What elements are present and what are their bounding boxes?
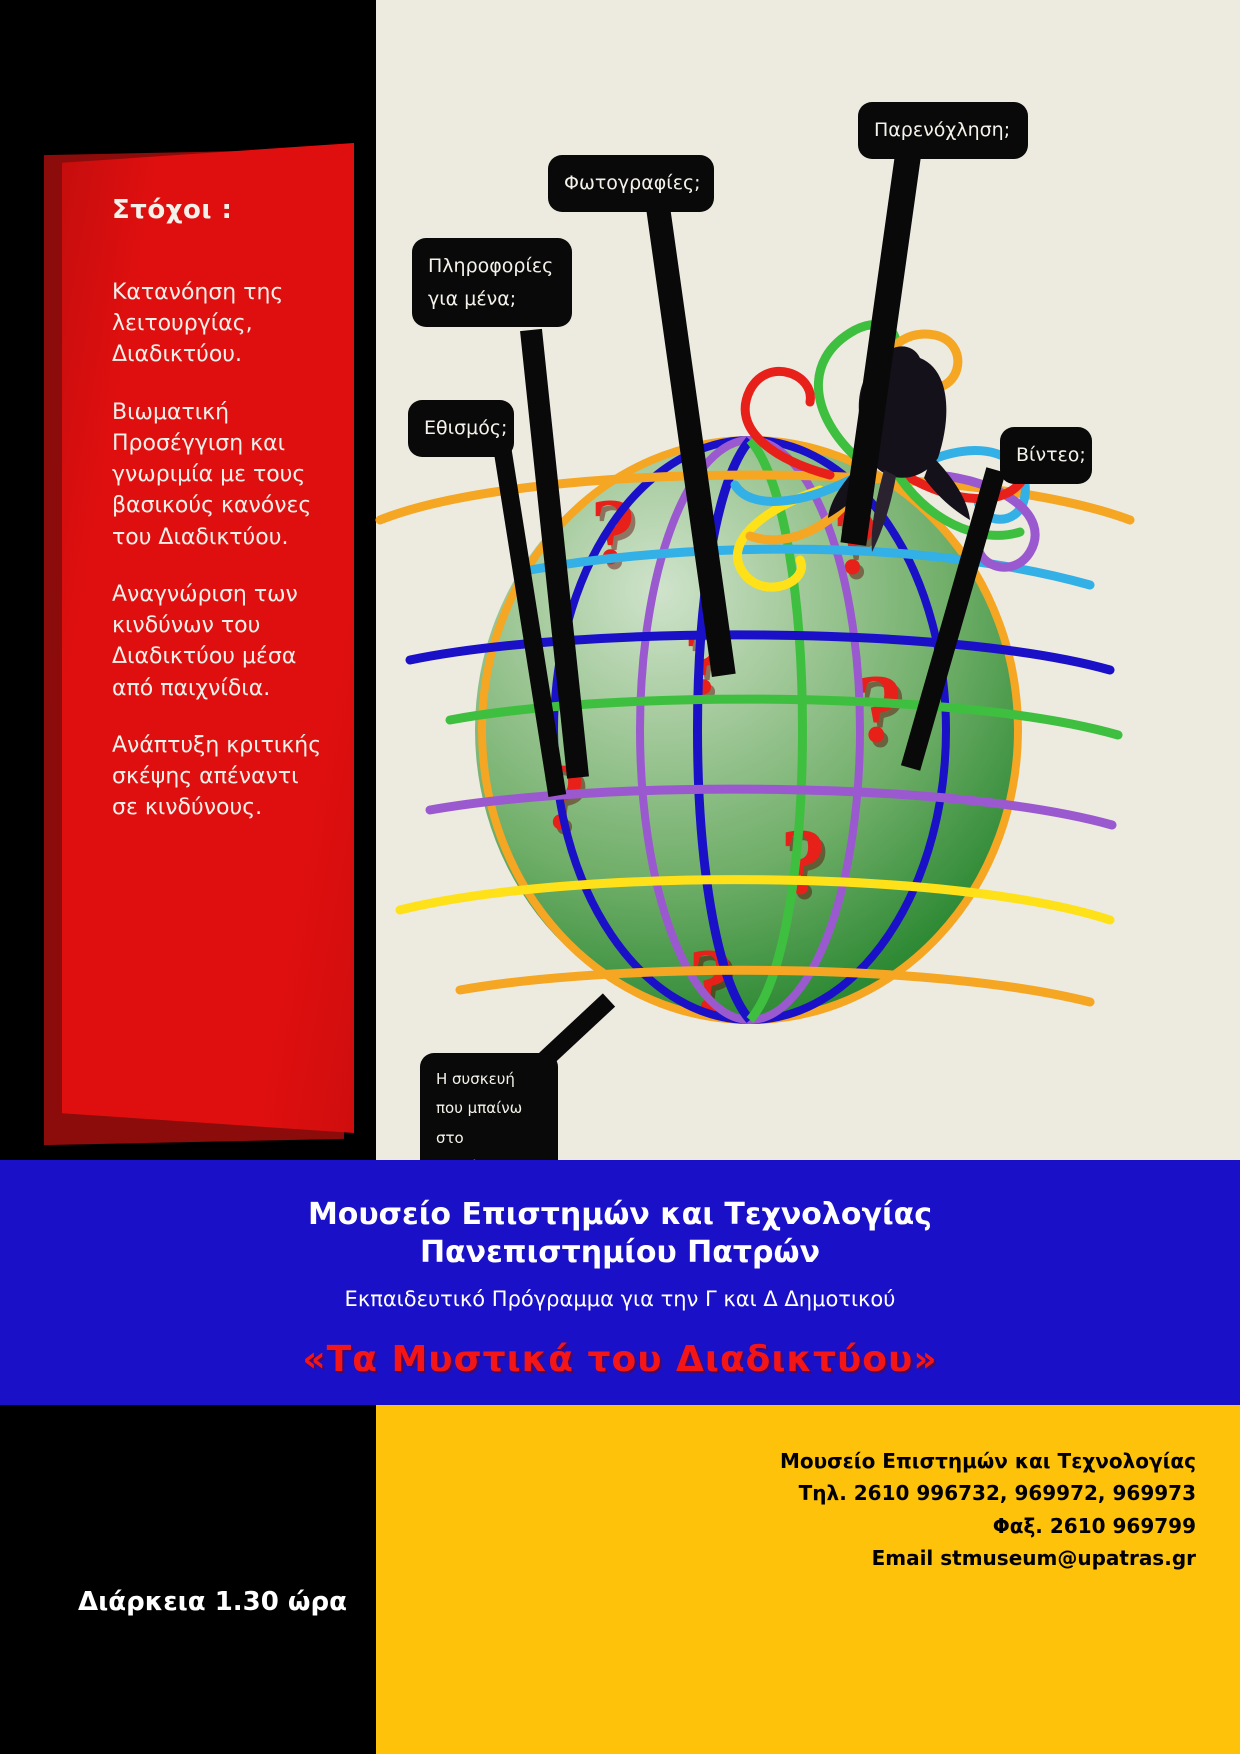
poster: Στόχοι : Κατανόηση της λειτουργίας, Διαδ… — [0, 0, 1240, 1754]
globe-illustration: ? ? ? ? ? ? ? — [400, 270, 1100, 1070]
duration-label: Διάρκεια 1.30 ώρα — [78, 1587, 347, 1617]
museum-footer-band: Μουσείο Επιστημών και Τεχνολογίας Πανεπι… — [0, 1160, 1240, 1405]
bubble-photos[interactable]: Φωτογραφίες; — [548, 155, 714, 212]
goal-item: Ανάπτυξη κριτικής σκέψης απέναντι σε κιν… — [112, 730, 326, 824]
goal-item: Βιωματική Προσέγγιση και γνωριμία με του… — [112, 397, 326, 553]
museum-name-line1: Μουσείο Επιστημών και Τεχνολογίας — [308, 1197, 932, 1232]
bubble-label: Πληροφορίες για μένα; — [428, 255, 553, 310]
bubble-label: Φωτογραφίες; — [564, 172, 701, 194]
program-subtitle: Εκπαιδευτικό Πρόγραμμα για την Γ και Δ Δ… — [0, 1287, 1240, 1311]
goal-item: Αναγνώριση των κινδύνων του Διαδικτύου μ… — [112, 579, 326, 704]
goals-card: Στόχοι : Κατανόηση της λειτουργίας, Διαδ… — [62, 143, 354, 1133]
museum-name-line2: Πανεπιστημίου Πατρών — [420, 1235, 820, 1270]
contact-line-email[interactable]: Email stmuseum@upatras.gr — [376, 1542, 1196, 1574]
contact-line: Τηλ. 2610 996732, 969972, 969973 — [376, 1477, 1196, 1509]
bubble-label: Παρενόχληση; — [874, 119, 1010, 141]
bubble-info-about-me[interactable]: Πληροφορίες για μένα; — [412, 238, 572, 327]
bottom-strip: Μουσείο Επιστημών και Τεχνολογίας Τηλ. 2… — [0, 1405, 1240, 1754]
contact-line: Μουσείο Επιστημών και Τεχνολογίας — [376, 1445, 1196, 1477]
goals-title: Στόχοι : — [112, 195, 326, 225]
bubble-addiction[interactable]: Εθισμός; — [408, 400, 514, 457]
bubble-harassment[interactable]: Παρενόχληση; — [858, 102, 1028, 159]
bubble-video[interactable]: Βίντεο; — [1000, 427, 1092, 484]
museum-name: Μουσείο Επιστημών και Τεχνολογίας Πανεπι… — [0, 1160, 1240, 1273]
contact-block: Μουσείο Επιστημών και Τεχνολογίας Τηλ. 2… — [376, 1405, 1240, 1754]
program-title: «Τα Μυστικά του Διαδικτύου» — [0, 1339, 1240, 1380]
goal-item: Κατανόηση της λειτουργίας, Διαδικτύου. — [112, 277, 326, 371]
bubble-label: Βίντεο; — [1016, 444, 1086, 466]
bubble-label: Εθισμός; — [424, 417, 507, 439]
contact-line: Φαξ. 2610 969799 — [376, 1510, 1196, 1542]
